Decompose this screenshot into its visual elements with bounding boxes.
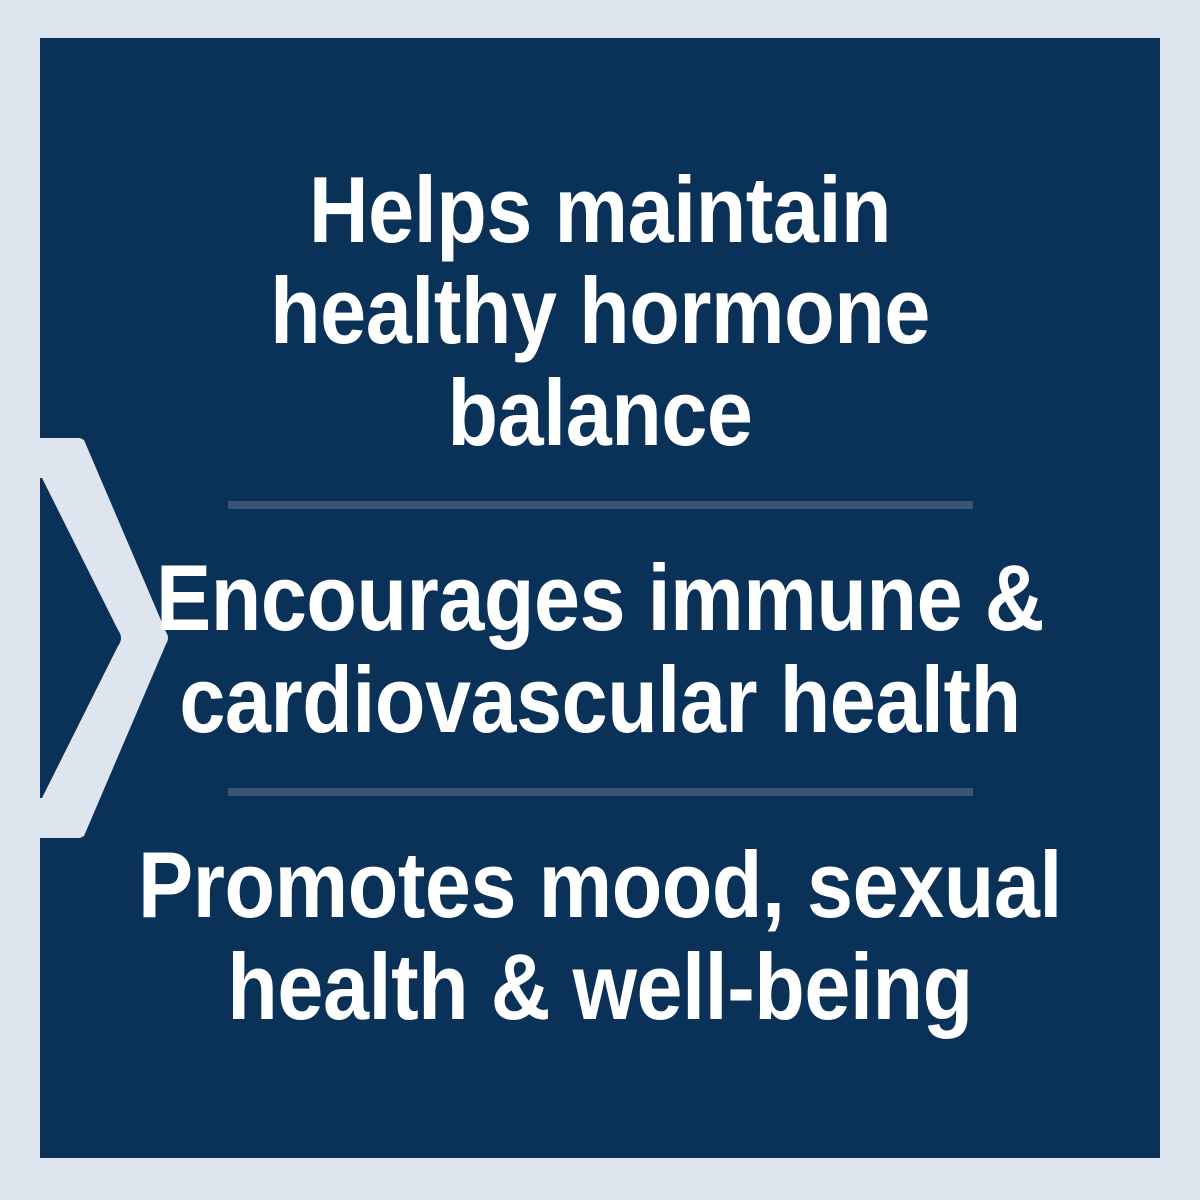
benefit-item-3: Promotes mood, sexual health & well-bein… xyxy=(107,834,1093,1037)
product-benefits-graphic: Helps maintain healthy hormone balance E… xyxy=(0,0,1200,1200)
benefits-list: Helps maintain healthy hormone balance E… xyxy=(40,38,1160,1158)
benefit-divider-2 xyxy=(228,788,973,796)
benefit-divider-1 xyxy=(228,501,973,509)
benefit-item-1: Helps maintain healthy hormone balance xyxy=(107,159,1093,464)
benefit-item-2: Encourages immune & cardiovascular healt… xyxy=(107,547,1093,750)
